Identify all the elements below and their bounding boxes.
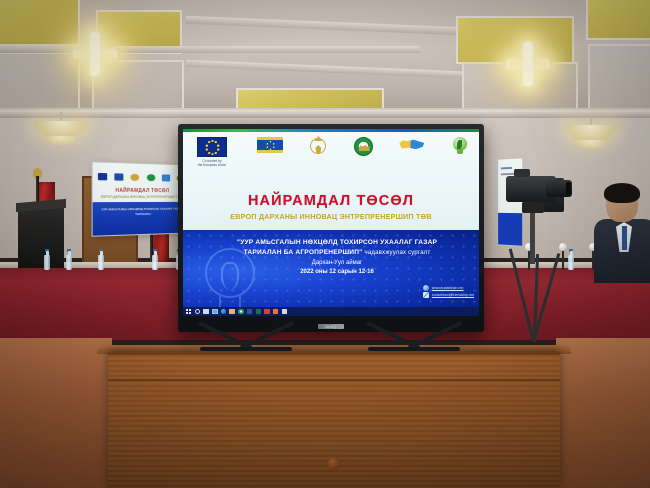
- seated-participant: [598, 186, 650, 282]
- slide-blue-panel: "УУР АМЬСГАЛЫН НӨХЦӨЛД ТОХИРСОН УХААЛАГ …: [183, 230, 479, 316]
- projection-subtitle: ЕВРОП ДАРХАНЫ ИННОВАЦ ЭНТРЕПРЕНЕРШИП ТӨВ: [93, 195, 189, 199]
- agriculture-circle-icon: [354, 137, 373, 156]
- government-emblem-logo: [309, 137, 327, 155]
- partner-flag-icon: [257, 137, 283, 153]
- green-bulb-innovation-logo: [451, 137, 469, 157]
- globe-icon: [423, 285, 429, 291]
- slide-subtitle: ЕВРОП ДАРХАНЫ ИННОВАЦ ЭНТРЕПРЕНЕРШИП ТӨВ: [183, 212, 479, 221]
- window-icon[interactable]: [282, 309, 288, 315]
- word-icon[interactable]: [247, 309, 253, 315]
- water-bottle: [44, 255, 50, 270]
- projection-blue-panel: УУР АМЬСГАЛЫН НӨХЦӨЛД ТОХИРСОН УХААЛАГ Г…: [93, 202, 189, 236]
- ceiling-light-right: [506, 42, 550, 86]
- water-bottle: [98, 255, 104, 270]
- green-lightbulb-icon: [451, 137, 469, 157]
- slide-contact-block: www.eudarkhan.mn eudarkhan@friendship.mn: [423, 285, 474, 299]
- video-camera: [506, 176, 556, 202]
- green-circle-agriculture-logo: [354, 137, 373, 156]
- edge-icon[interactable]: [221, 309, 227, 315]
- tv-stand-left: [196, 330, 300, 352]
- task-view-icon[interactable]: [203, 309, 209, 315]
- slide-body-line1: "УУР АМЬСГАЛЫН НӨХЦӨЛД ТОХИРСОН УХААЛАГ …: [213, 238, 461, 248]
- slide-logo-row: Co-funded by the European Union: [193, 137, 469, 167]
- active-window-icon[interactable]: [212, 309, 218, 315]
- chandelier-left: [34, 112, 88, 148]
- chrome-icon[interactable]: [238, 309, 244, 315]
- chandelier-right: [566, 116, 616, 150]
- partner-flag-logo: [257, 137, 283, 153]
- eu-flag-icon: [197, 137, 227, 157]
- mail-icon: [423, 292, 429, 298]
- darkhan-uul-map-logo: [399, 137, 425, 153]
- email-text: eudarkhan@friendship.mn: [432, 293, 474, 297]
- slide-date: 2022 оны 12 сарын 12-16: [213, 269, 461, 275]
- slide-location: Дархан-Уул аймаг: [213, 260, 461, 266]
- folder-icon[interactable]: [229, 309, 235, 315]
- vlc-icon[interactable]: [273, 309, 279, 315]
- tv-bezel: Co-funded by the European Union: [178, 124, 484, 332]
- slide-title: НАЙРАМДАЛ ТӨСӨЛ: [183, 193, 479, 209]
- website-text: www.eudarkhan.mn: [432, 286, 464, 290]
- wall-moulding: [0, 110, 650, 118]
- projection-logo-row: [98, 170, 185, 184]
- tv-brand-label: BenQ: [318, 324, 344, 329]
- wooden-cabinet: [108, 352, 560, 488]
- powerpoint-icon[interactable]: [264, 309, 270, 315]
- excel-icon[interactable]: [256, 309, 262, 315]
- windows-icon[interactable]: [186, 309, 192, 315]
- floor-left: [0, 338, 112, 488]
- left-projection-screen: НАЙРАМДАЛ ТӨСӨЛ ЕВРОП ДАРХАНЫ ИННОВАЦ ЭН…: [92, 161, 190, 237]
- presentation-slide: Co-funded by the European Union: [183, 129, 479, 316]
- map-icon: [399, 137, 425, 153]
- projection-title: НАЙРАМДАЛ ТӨСӨЛ: [93, 187, 189, 194]
- cabinet-knob: [328, 458, 340, 470]
- water-bottle: [152, 255, 158, 270]
- television: Co-funded by the European Union: [178, 124, 484, 352]
- tv-screen[interactable]: Co-funded by the European Union: [183, 129, 479, 316]
- water-bottle: [66, 255, 72, 270]
- slide-body-line2: ТАРИАЛАН БА АГРОПРЕНЕРШИП" чадавхжуулах …: [213, 248, 461, 258]
- government-emblem-icon: [309, 137, 327, 155]
- ceiling: [0, 0, 650, 118]
- camera-lens: [546, 180, 572, 197]
- search-icon[interactable]: [195, 309, 201, 315]
- windows-taskbar[interactable]: [183, 307, 479, 316]
- video-camera-on-tripod: [500, 182, 570, 342]
- eu-flag-caption: Co-funded by the European Union: [193, 159, 231, 168]
- slide-body: "УУР АМЬСГАЛЫН НӨХЦӨЛД ТОХИРСОН УХААЛАГ …: [213, 238, 461, 275]
- floor-right: [556, 338, 650, 488]
- email-row[interactable]: eudarkhan@friendship.mn: [423, 292, 474, 298]
- tv-stand-right: [364, 330, 468, 352]
- ceiling-light-left: [73, 32, 117, 76]
- conference-room-photo: НАЙРАМДАЛ ТӨСӨЛ ЕВРОП ДАРХАНЫ ИННОВАЦ ЭН…: [0, 0, 650, 488]
- website-row[interactable]: www.eudarkhan.mn: [423, 285, 474, 291]
- projection-body: УУР АМЬСГАЛЫН НӨХЦӨЛД ТОХИРСОН УХААЛАГ Г…: [93, 207, 189, 217]
- eu-flag-logo: Co-funded by the European Union: [193, 137, 231, 168]
